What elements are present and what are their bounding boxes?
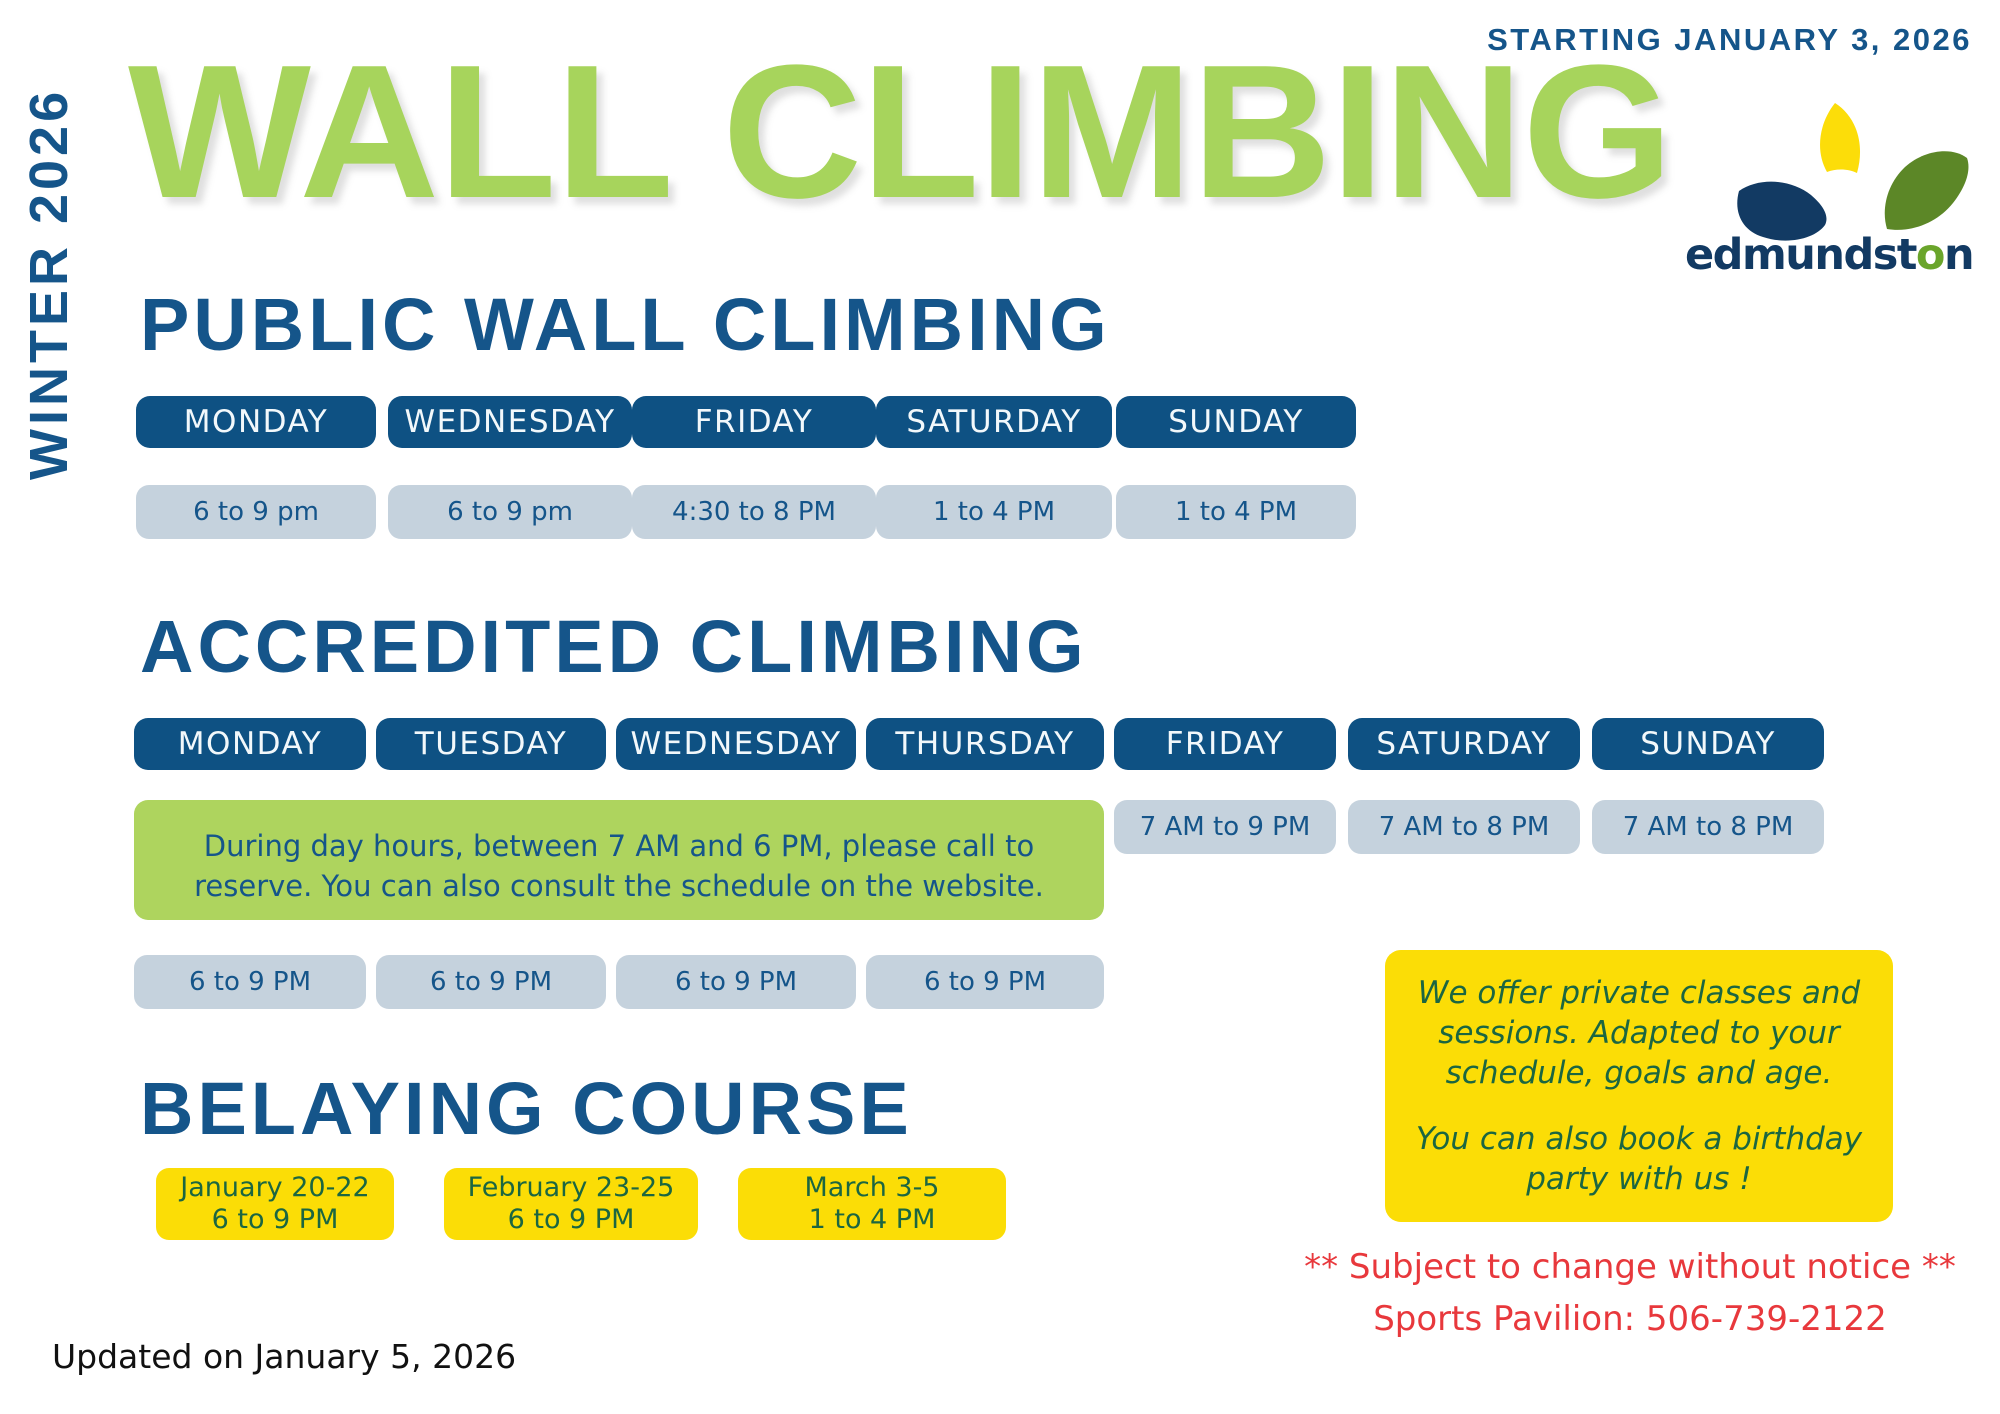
section-heading-public: PUBLIC WALL CLIMBING [140,288,1111,362]
public-day-wednesday: WEDNESDAY [388,396,632,448]
season-label: WINTER 2026 [14,60,84,480]
private-classes-text: We offer private classes and sessions. A… [1409,973,1869,1093]
leaves-icon [1715,95,1975,245]
belaying-session-3: March 3-5 1 to 4 PM [738,1168,1006,1240]
phone-notice: Sports Pavilion: 506-739-2122 [1280,1294,1980,1344]
public-time-monday: 6 to 9 pm [136,485,376,539]
public-time-friday: 4:30 to 8 PM [632,485,876,539]
belaying-session-2: February 23-25 6 to 9 PM [444,1168,698,1240]
section-heading-accredited: ACCREDITED CLIMBING [140,610,1088,684]
accredited-reservation-note: During day hours, between 7 AM and 6 PM,… [134,800,1104,920]
public-time-sunday: 1 to 4 PM [1116,485,1356,539]
updated-date: Updated on January 5, 2026 [52,1337,516,1376]
belaying-session-3-dates: March 3-5 [805,1172,940,1204]
accredited-day-wednesday: WEDNESDAY [616,718,856,770]
logo-word-part2: n [1944,230,1973,280]
belaying-session-3-time: 1 to 4 PM [809,1204,936,1236]
edmundston-logo: edmundston [1715,95,1975,295]
poster-root: WINTER 2026 WALL CLIMBING STARTING JANUA… [0,0,2000,1414]
accredited-day-sunday: SUNDAY [1592,718,1824,770]
public-day-monday: MONDAY [136,396,376,448]
birthday-party-text: You can also book a birthday party with … [1409,1119,1869,1199]
accredited-time-friday: 7 AM to 9 PM [1114,800,1336,854]
private-classes-box: We offer private classes and sessions. A… [1385,950,1893,1222]
accredited-evening-thursday: 6 to 9 PM [866,955,1104,1009]
public-time-wednesday: 6 to 9 pm [388,485,632,539]
accredited-time-sunday: 7 AM to 8 PM [1592,800,1824,854]
accredited-time-saturday: 7 AM to 8 PM [1348,800,1580,854]
section-heading-belaying: BELAYING COURSE [140,1072,913,1146]
starting-date: STARTING JANUARY 3, 2026 [1487,22,1972,58]
public-day-sunday: SUNDAY [1116,396,1356,448]
accredited-evening-tuesday: 6 to 9 PM [376,955,606,1009]
subject-to-change-notice: ** Subject to change without notice ** [1280,1242,1980,1292]
accredited-evening-wednesday: 6 to 9 PM [616,955,856,1009]
accredited-day-monday: MONDAY [134,718,366,770]
logo-word-part1: edmundst [1685,230,1916,280]
public-time-saturday: 1 to 4 PM [876,485,1112,539]
accredited-day-thursday: THURSDAY [866,718,1104,770]
belaying-session-1-time: 6 to 9 PM [212,1204,339,1236]
public-day-friday: FRIDAY [632,396,876,448]
accredited-day-tuesday: TUESDAY [376,718,606,770]
belaying-session-2-dates: February 23-25 [468,1172,675,1204]
accredited-evening-monday: 6 to 9 PM [134,955,366,1009]
belaying-session-2-time: 6 to 9 PM [508,1204,635,1236]
page-title: WALL CLIMBING [128,42,1672,222]
accredited-day-friday: FRIDAY [1114,718,1336,770]
public-day-saturday: SATURDAY [876,396,1112,448]
belaying-session-1-dates: January 20-22 [180,1172,369,1204]
logo-wordmark: edmundston [1685,230,1973,280]
belaying-session-1: January 20-22 6 to 9 PM [156,1168,394,1240]
accredited-day-saturday: SATURDAY [1348,718,1580,770]
logo-word-accent: o [1916,230,1944,280]
